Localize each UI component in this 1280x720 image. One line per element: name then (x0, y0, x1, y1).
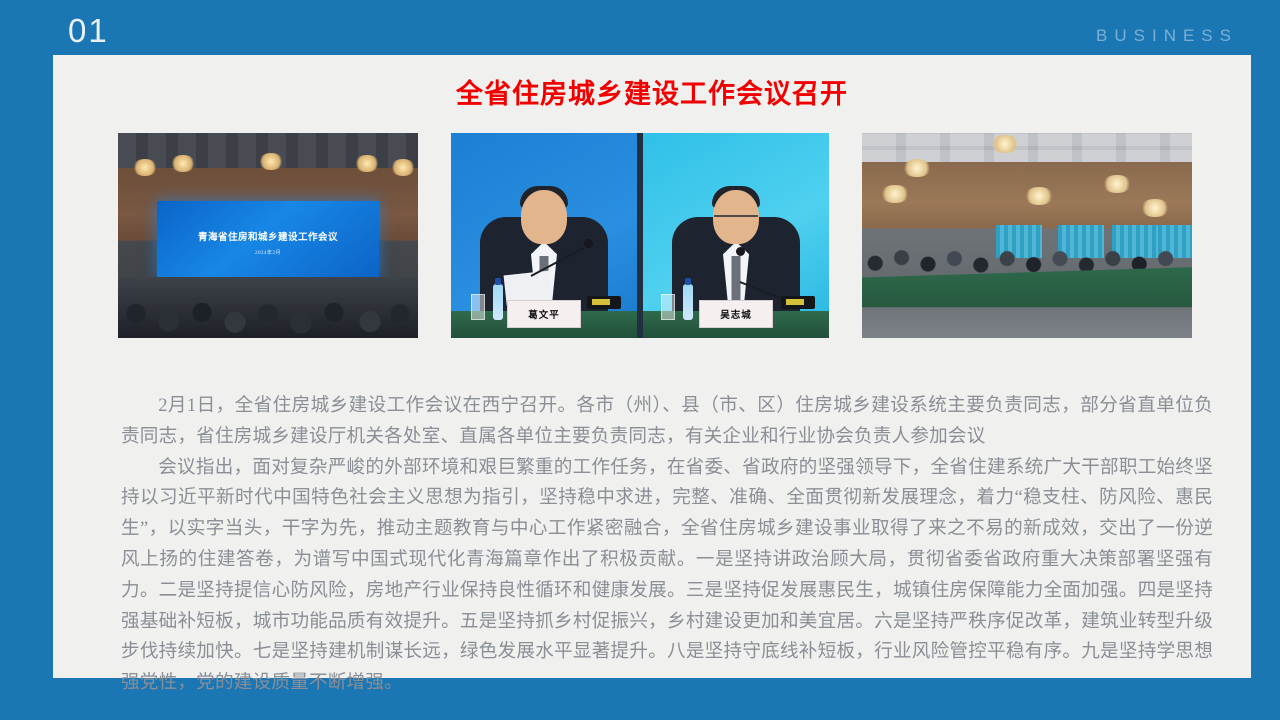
water-glass (471, 294, 485, 320)
chandelier-icon (354, 155, 380, 172)
chandelier-icon (1140, 199, 1170, 217)
photo-strip: 青海省住房和城乡建设工作会议 2024年2月 (118, 133, 1192, 338)
chandelier-icon (880, 185, 910, 203)
chandelier-icon (132, 159, 158, 176)
chandelier-icon (1102, 175, 1132, 193)
speaker-right-frame: 吴志城 (643, 133, 829, 338)
water-bottle (493, 284, 503, 320)
led-screen-title: 青海省住房和城乡建设工作会议 (157, 229, 379, 243)
speaker-left-frame: 葛文平 (451, 133, 637, 338)
slide-root: 01 BUSINESS 全省住房城乡建设工作会议召开 青海省住房和城乡建设工作会… (0, 0, 1280, 720)
glasses-icon (714, 215, 758, 226)
photo-two-speakers: 葛文平 吴志城 (451, 133, 829, 338)
chandelier-icon (390, 159, 416, 176)
article-body: 2月1日，全省住房城乡建设工作会议在西宁召开。各市（州）、县（市、区）住房城乡建… (121, 391, 1213, 699)
head-shape (521, 190, 567, 244)
chandelier-icon (990, 135, 1020, 153)
audience-crowd (118, 277, 418, 339)
microphone-icon (584, 239, 593, 248)
chandelier-icon (258, 153, 284, 170)
ceiling-grid (862, 133, 1192, 162)
section-number: 01 (68, 14, 109, 47)
nameplate-stand (587, 296, 621, 309)
chandelier-icon (1024, 187, 1054, 205)
led-screen-date: 2024年2月 (157, 249, 379, 256)
paragraph-1: 2月1日，全省住房城乡建设工作会议在西宁召开。各市（州）、县（市、区）住房城乡建… (121, 391, 1213, 453)
brand-label: BUSINESS (1096, 27, 1238, 44)
nameplate-left: 葛文平 (507, 300, 581, 328)
nameplate-stand (781, 296, 815, 309)
content-panel: 全省住房城乡建设工作会议召开 青海省住房和城乡建设工作会议 2024年2月 (53, 55, 1251, 678)
microphone-icon (736, 247, 745, 256)
water-glass (661, 294, 675, 320)
led-screen: 青海省住房和城乡建设工作会议 2024年2月 (157, 201, 379, 279)
nameplate-right: 吴志城 (699, 300, 773, 328)
water-bottle (683, 284, 693, 320)
photo-conference-hall: 青海省住房和城乡建设工作会议 2024年2月 (118, 133, 418, 338)
chandelier-icon (170, 155, 196, 172)
chandelier-icon (902, 159, 932, 177)
page-title: 全省住房城乡建设工作会议召开 (53, 55, 1251, 110)
photo-meeting-room (862, 133, 1192, 338)
paragraph-2: 会议指出，面对复杂严峻的外部环境和艰巨繁重的工作任务，在省委、省政府的坚强领导下… (121, 453, 1213, 699)
